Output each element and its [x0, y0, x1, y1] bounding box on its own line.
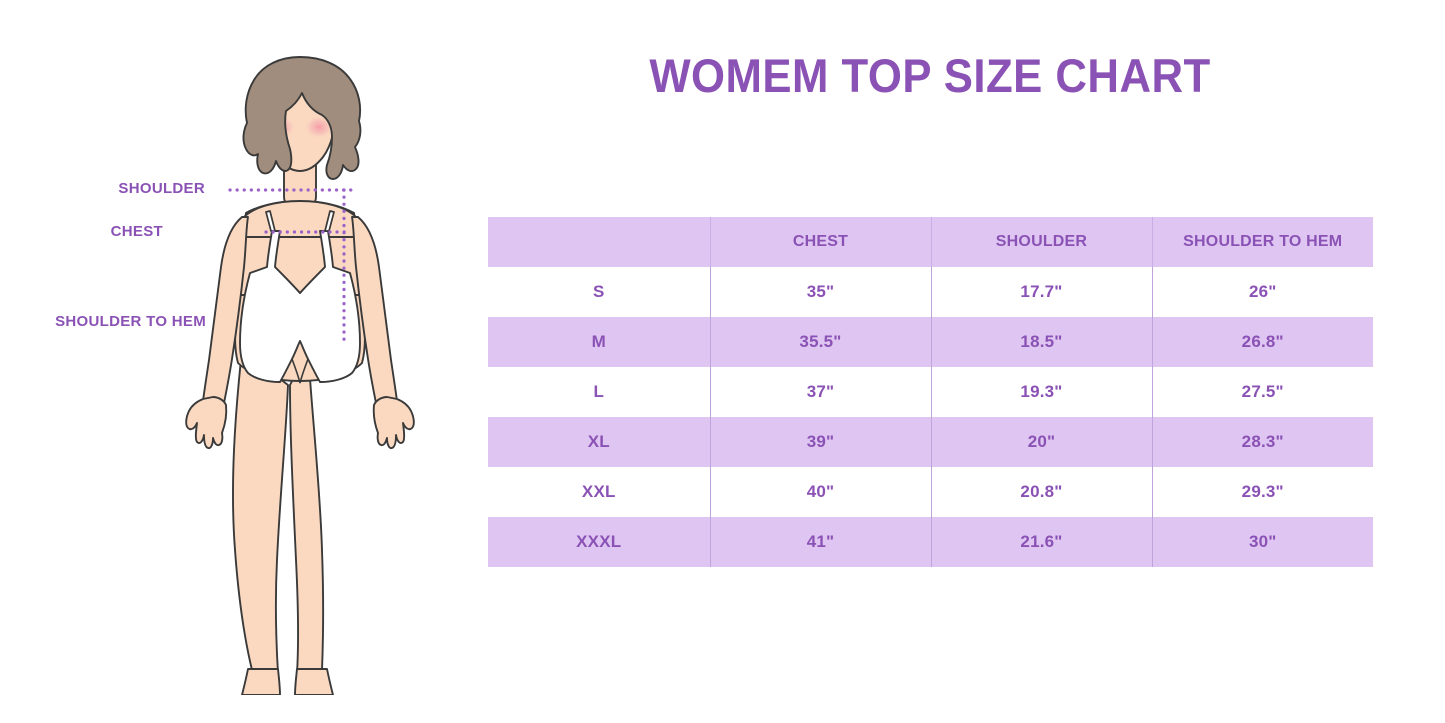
right-foot — [295, 669, 333, 695]
page-title: WOMEM TOP SIZE CHART — [502, 48, 1358, 103]
column-header-size — [488, 217, 710, 267]
cell-chest: 41" — [710, 517, 931, 567]
cell-size: M — [488, 317, 710, 367]
cell-chest: 40" — [710, 467, 931, 517]
cell-size: XXL — [488, 467, 710, 517]
cell-size: XL — [488, 417, 710, 467]
column-header-chest: CHEST — [710, 217, 931, 267]
label-shoulder: SHOULDER — [0, 180, 205, 197]
left-foot — [242, 669, 280, 695]
size-chart-table: CHEST SHOULDER SHOULDER TO HEM S 35" 17.… — [488, 217, 1373, 567]
cell-chest: 37" — [710, 367, 931, 417]
cell-shoulder: 18.5" — [931, 317, 1152, 367]
left-leg — [233, 350, 288, 690]
cell-chest: 35.5" — [710, 317, 931, 367]
cell-chest: 35" — [710, 267, 931, 317]
cell-shoulder: 17.7" — [931, 267, 1152, 317]
size-chart-table-container: CHEST SHOULDER SHOULDER TO HEM S 35" 17.… — [488, 217, 1373, 569]
female-body-illustration — [180, 45, 420, 695]
cell-shoulder: 21.6" — [931, 517, 1152, 567]
table-header-row: CHEST SHOULDER SHOULDER TO HEM — [488, 217, 1373, 267]
cell-shoulder-to-hem: 27.5" — [1152, 367, 1373, 417]
label-shoulder-to-hem: SHOULDER TO HEM — [0, 313, 206, 330]
cell-size: XXXL — [488, 517, 710, 567]
right-hand — [374, 397, 414, 448]
column-header-shoulder: SHOULDER — [931, 217, 1152, 267]
table-row: S 35" 17.7" 26" — [488, 267, 1373, 317]
cell-shoulder: 19.3" — [931, 367, 1152, 417]
table-row: M 35.5" 18.5" 26.8" — [488, 317, 1373, 367]
table-row: XL 39" 20" 28.3" — [488, 417, 1373, 467]
cell-shoulder-to-hem: 29.3" — [1152, 467, 1373, 517]
cell-shoulder-to-hem: 26.8" — [1152, 317, 1373, 367]
left-hand — [186, 397, 226, 448]
table-row: XXXL 41" 21.6" 30" — [488, 517, 1373, 567]
label-chest: CHEST — [0, 223, 163, 240]
cell-shoulder: 20" — [931, 417, 1152, 467]
cell-shoulder: 20.8" — [931, 467, 1152, 517]
body-group — [186, 57, 414, 695]
cell-size: L — [488, 367, 710, 417]
right-leg — [290, 350, 327, 690]
cell-shoulder-to-hem: 28.3" — [1152, 417, 1373, 467]
table-row: XXL 40" 20.8" 29.3" — [488, 467, 1373, 517]
cell-shoulder-to-hem: 26" — [1152, 267, 1373, 317]
table-row: L 37" 19.3" 27.5" — [488, 367, 1373, 417]
column-header-shoulder-to-hem: SHOULDER TO HEM — [1152, 217, 1373, 267]
cell-chest: 39" — [710, 417, 931, 467]
cell-shoulder-to-hem: 30" — [1152, 517, 1373, 567]
cell-size: S — [488, 267, 710, 317]
